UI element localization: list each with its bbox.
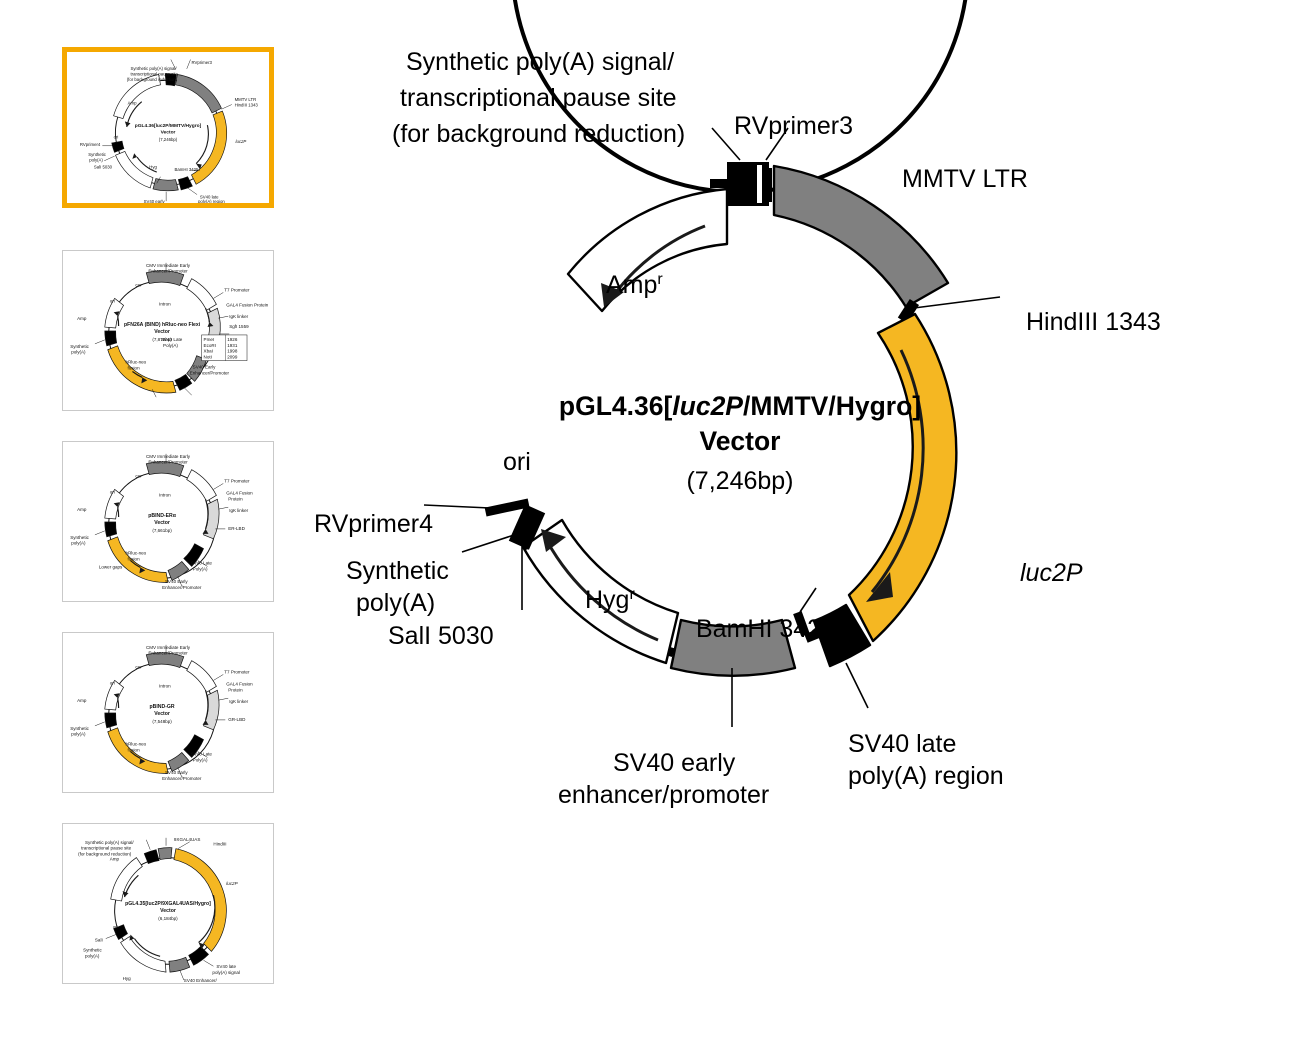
- thumb1-label-fusion1: hRluc-neo: [126, 360, 147, 365]
- thumb4-label-top3: (for background reduction): [78, 852, 132, 857]
- thumb1-label-sv40early1: SV40 Early: [193, 365, 216, 370]
- site-box-rvprimer3: [766, 168, 772, 202]
- thumb3-label-intron: Intron: [159, 683, 171, 688]
- thumb1-label-synth2: poly(A): [71, 350, 86, 355]
- label-amp-text: Amp: [606, 271, 657, 299]
- leader-sv40-late: [846, 663, 868, 708]
- center-title-line2: Vector: [699, 426, 780, 456]
- label-sali: SalI 5030: [388, 622, 494, 650]
- thumb0-label-hindiii: HindIII 1343: [235, 102, 259, 107]
- center-size-label: (7,246bp): [686, 467, 793, 495]
- thumbnail-0-diagram: Synthetic poly(A) signal/ transcriptiona…: [67, 52, 269, 203]
- thumb2-label-synth1: Synthetic: [70, 535, 89, 540]
- thumb3-title2: Vector: [154, 711, 170, 717]
- thumb2-label-gal41: GAL4 Fusion: [226, 490, 253, 495]
- thumbnail-rail: Synthetic poly(A) signal/ transcriptiona…: [0, 0, 300, 1038]
- thumb2-label-sv40early2: Enhancer/Promoter: [162, 585, 202, 590]
- thumbnail-1-diagram: CMV Immediate Early Enhancer/Promoter T7…: [63, 251, 273, 410]
- thumb1-site4v: 2099: [227, 355, 238, 360]
- thumb4-label-synth1: Synthetic: [83, 947, 102, 952]
- title-prefix: pGL4.36[: [559, 391, 673, 421]
- thumb3-label-fusion2: fusion: [128, 748, 141, 753]
- thumb2-label-cer: cer: [135, 474, 142, 479]
- leader-synthetic-polya: [462, 535, 514, 552]
- thumb1-label-sgfi: SgfI 1559: [229, 324, 249, 329]
- thumb3-label-sv40early2: Enhancer/Promoter: [162, 776, 202, 781]
- main-plasmid-map: Synthetic poly(A) signal/ transcriptiona…: [300, 0, 1308, 1038]
- thumb0-label-top3: (for background reduction): [127, 77, 178, 82]
- thumb4-label-top1: Synthetic poly(A) signal/: [85, 840, 134, 845]
- thumb1-title1: pFN26A (BIND) hRluc-neo Flexi: [124, 322, 201, 328]
- thumb2-label-t7: T7 Promoter: [224, 478, 250, 483]
- thumb1-site-table: PmeI 1926 EcoRI 1931 XbaI 1998 NotI 2099: [202, 335, 247, 361]
- thumb1-label-fusion2: fusion: [128, 366, 141, 371]
- thumb3-label-sv40early1: SV40 Early: [165, 770, 188, 775]
- thumb4-label-amp: Amp: [110, 857, 120, 862]
- thumbnail-item-3[interactable]: CMV Immediate Early Enhancer/Promoter T7…: [62, 632, 274, 793]
- thumb2-label-cmv1: CMV Immediate Early: [146, 454, 191, 459]
- thumb3-label-cer: cer: [135, 665, 142, 670]
- thumb3-label-synth2: poly(A): [71, 732, 86, 737]
- thumb4-label-hindiii: HindIII: [213, 842, 226, 847]
- thumb2-label-sv40early1: SV40 Early: [165, 579, 188, 584]
- thumb3-label-t7: T7 Promoter: [224, 669, 250, 674]
- label-sv40-late-line1: SV40 late: [848, 730, 956, 758]
- thumb0-label-hyg: Hyg: [149, 164, 157, 169]
- thumbnail-item-2[interactable]: CMV Immediate Early Enhancer/Promoter T7…: [62, 441, 274, 602]
- thumb1-label-intron: Intron: [159, 301, 171, 306]
- thumb4-label-sv40early1: SV40 Enhancer/: [184, 978, 218, 983]
- thumb1-site2v: 1931: [227, 343, 238, 348]
- thumb0-label-ori: ori: [114, 134, 119, 139]
- thumb2-label-sv40late1: SV40 Late: [191, 560, 213, 565]
- thumb4-label-sv40late2: poly(A) signal: [212, 970, 239, 975]
- thumb3-title1: pBIND-GR: [150, 704, 175, 710]
- thumb3-label-gal42: Protein: [228, 687, 243, 692]
- thumb3-label-cmv2: Enhancer/Promoter: [148, 651, 188, 656]
- thumb2-title1: pBIND-ERα: [148, 513, 176, 519]
- thumb0-label-sv40late2: poly(A) region: [198, 199, 225, 203]
- title-italic: luc2P: [672, 391, 743, 421]
- thumb3-label-amp: Amp: [77, 698, 87, 703]
- label-bamhi: BamHI 3425: [696, 615, 835, 643]
- thumb0-title2: Vector: [161, 130, 176, 136]
- label-amp: Ampr: [606, 271, 663, 299]
- thumb1-label-sv40late2: Poly(A): [163, 343, 178, 348]
- thumb0-size: (7,246bp): [159, 137, 178, 142]
- thumb3-size: (7,548bp): [152, 719, 172, 724]
- thumb3-label-fusion1: hRluc-neo: [126, 742, 147, 747]
- thumb4-label-gal4uas: 9XGAL4UAS: [174, 837, 200, 842]
- label-polya-line1: Synthetic poly(A) signal/: [406, 48, 674, 76]
- thumb0-label-synth1: Synthetic: [88, 152, 107, 157]
- thumbnail-2-diagram: CMV Immediate Early Enhancer/Promoter T7…: [63, 442, 273, 601]
- leader-bamhi: [800, 588, 816, 612]
- thumb1-site4: NotI: [204, 355, 212, 360]
- segment-luc2p: [849, 314, 956, 641]
- thumb2-label-fusion2: fusion: [128, 557, 141, 562]
- thumb2-label-igk: IgK linker: [229, 508, 248, 513]
- label-synthetic-polya-line1: Synthetic: [346, 557, 449, 585]
- thumbnail-item-0[interactable]: Synthetic poly(A) signal/ transcriptiona…: [62, 47, 274, 208]
- label-sv40-late-line2: poly(A) region: [848, 762, 1004, 790]
- thumb1-label-cer: cer: [135, 283, 142, 288]
- thumb1-site3v: 1998: [227, 349, 238, 354]
- thumb1-site1: PmeI: [204, 337, 215, 342]
- label-rvprimer4: RVprimer4: [314, 510, 433, 538]
- thumb2-label-gal42: Protein: [228, 496, 243, 501]
- thumb2-label-synth2: poly(A): [71, 541, 86, 546]
- thumb0-label-top1: Synthetic poly(A) signal/: [130, 66, 177, 71]
- label-polya-line2: transcriptional pause site: [400, 84, 677, 112]
- thumb0-label-synth2: poly(A): [89, 158, 103, 163]
- label-hyg-sup: r: [629, 586, 635, 603]
- label-hyg: Hygr: [585, 586, 635, 614]
- thumb0-label-luc2p: luc2P: [236, 139, 247, 144]
- thumb1-size: (7,878bp): [152, 337, 172, 342]
- label-mmtv-ltr: MMTV LTR: [902, 165, 1028, 193]
- thumb2-label-intron: Intron: [159, 492, 171, 497]
- thumb4-label-luc2p: luc2P: [226, 881, 237, 886]
- thumb1-label-igk: IgK linker: [229, 314, 248, 319]
- label-synthetic-polya-line2: poly(A): [356, 589, 435, 617]
- thumbnail-item-4[interactable]: Synthetic poly(A) signal/ transcriptiona…: [62, 823, 274, 984]
- thumb0-label-mmtv: MMTV LTR: [235, 97, 257, 102]
- thumb4-size: (6,184bp): [158, 916, 178, 921]
- thumb2-label-cmv2: Enhancer/Promoter: [148, 460, 188, 465]
- thumb3-label-igk: IgK linker: [229, 699, 248, 704]
- label-luc2p: luc2P: [1020, 559, 1083, 587]
- thumb1-title2: Vector: [154, 329, 170, 335]
- thumb1-label-amp: Amp: [77, 316, 87, 321]
- site-box-rvprimer3-notch: [757, 165, 762, 203]
- thumb3-label-synth1: Synthetic: [70, 726, 89, 731]
- center-title-block: pGL4.36[luc2P/MMTV/Hygro] Vector (7,246b…: [559, 391, 921, 495]
- thumb1-site3: XbaI: [204, 349, 213, 354]
- label-rvprimer3: RVprimer3: [734, 112, 853, 140]
- thumb2-label-fusion1: hRluc-neo: [126, 551, 147, 556]
- thumb1-site1v: 1926: [227, 337, 238, 342]
- label-sv40-early-line1: SV40 early: [613, 749, 736, 777]
- center-title-line1: pGL4.36[luc2P/MMTV/Hygro]: [559, 391, 921, 421]
- thumb1-label-synth1: Synthetic: [70, 344, 89, 349]
- thumb0-label-sali: SalI 5030: [94, 164, 113, 169]
- thumb0-label-rvprimer3: RVprimer3: [191, 60, 212, 65]
- thumb1-label-t7: T7 Promoter: [224, 287, 250, 292]
- thumbnail-4-diagram: Synthetic poly(A) signal/ transcriptiona…: [63, 824, 273, 983]
- thumb2-size: (7,661bp): [152, 528, 172, 533]
- connector-stub-left: [710, 179, 730, 188]
- thumb4-label-top2: transcriptional pause site: [81, 846, 132, 851]
- thumb4-label-ori: ori: [113, 925, 118, 930]
- thumb0-label-amp: Amp: [128, 101, 137, 106]
- thumb2-label-ori: ori: [110, 489, 115, 494]
- thumb0-label-rvprimer4: RVprimer4: [80, 142, 101, 147]
- thumb3-label-gal41: GAL4 Fusion: [226, 681, 253, 686]
- thumb2-label-sv40late2: Poly(A): [193, 566, 208, 571]
- thumb2-label-amp: Amp: [77, 507, 87, 512]
- label-hindiii: HindIII 1343: [1026, 308, 1161, 336]
- thumb2-label-lower: Lower gaps: [99, 564, 123, 569]
- thumb4-label-hyg: Hyg: [123, 976, 132, 981]
- thumb4-title2: Vector: [160, 908, 176, 914]
- thumb1-label-ori: ori: [110, 298, 115, 303]
- label-hyg-text: Hyg: [585, 586, 629, 614]
- thumb1-label-gal4: GAL4 Fusion Protein: [226, 302, 269, 307]
- leader-rvprimer4: [424, 505, 490, 508]
- thumb1-site2: EcoRI: [204, 343, 216, 348]
- thumb4-title1: pGL4.35[luc2P/9XGAL4UAS/Hygro]: [125, 901, 211, 907]
- thumb3-label-sv40late2: Poly(A): [193, 757, 208, 762]
- thumbnail-item-1[interactable]: CMV Immediate Early Enhancer/Promoter T7…: [62, 250, 274, 411]
- thumb2-label-erlbd: ER-LBD: [228, 526, 245, 531]
- title-suffix: /MMTV/Hygro]: [743, 391, 921, 421]
- thumb4-label-sv40late1: SV40 late: [216, 964, 236, 969]
- thumb0-label-bamhi: BamHI 3425: [175, 167, 199, 172]
- plasmid-map-page: Synthetic poly(A) signal/ transcriptiona…: [0, 0, 1308, 1038]
- thumb1-label-cmv1: CMV Immediate Early: [146, 263, 191, 268]
- leader-hindiii: [914, 297, 1000, 308]
- thumb3-label-ori: ori: [110, 680, 115, 685]
- thumb2-title2: Vector: [154, 520, 170, 526]
- plasmid-diagram: Synthetic poly(A) signal/ transcriptiona…: [300, 0, 1308, 1038]
- label-amp-sup: r: [657, 271, 663, 288]
- thumb4-label-sali: SalI: [95, 938, 103, 943]
- thumb4-label-synth2: poly(A): [85, 953, 100, 958]
- thumb0-label-top2: transcriptional pause site: [130, 71, 178, 76]
- thumb0-title1: pGL4.36[luc2P/MMTV/Hygro]: [135, 123, 202, 129]
- thumb3-label-sv40late1: SV40 Late: [191, 751, 213, 756]
- thumb0-label-sv40early1: SV40 early: [144, 199, 166, 203]
- thumbnail-3-diagram: CMV Immediate Early Enhancer/Promoter T7…: [63, 633, 273, 792]
- thumb3-label-grlbd: GR-LBD: [228, 717, 246, 722]
- label-ori: ori: [503, 448, 531, 476]
- label-polya-line3: (for background reduction): [392, 120, 685, 148]
- thumb1-label-cmv2: Enhancer/Promoter: [148, 269, 188, 274]
- label-sv40-early-line2: enhancer/promoter: [558, 781, 769, 809]
- thumb3-label-cmv1: CMV Immediate Early: [146, 645, 191, 650]
- thumb1-label-sv40early2: Enhancer/Promoter: [190, 370, 230, 375]
